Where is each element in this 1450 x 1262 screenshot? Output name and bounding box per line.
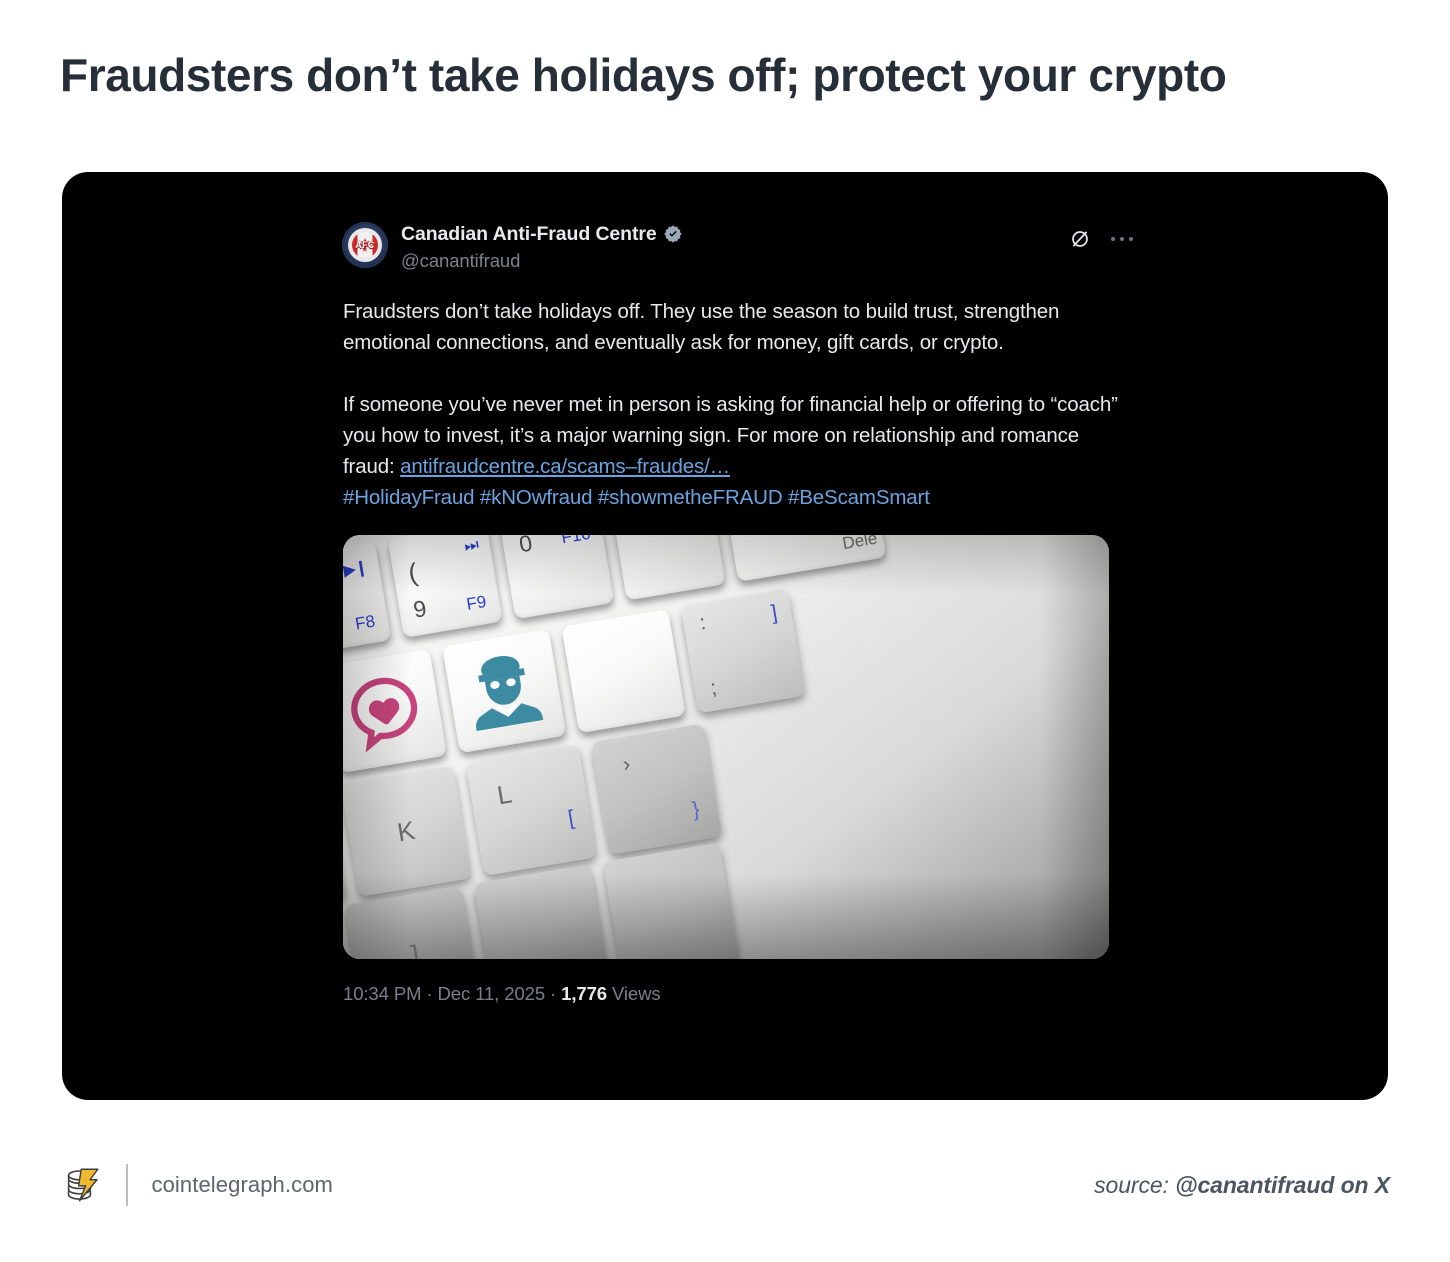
page-footer: cointelegraph.com source: @canantifraud … bbox=[62, 1155, 1390, 1215]
key-f9-symbol: ( bbox=[406, 557, 420, 589]
key-l-label: L bbox=[495, 779, 514, 812]
key-f10-number: 0 bbox=[517, 535, 534, 559]
tweet-hashtags[interactable]: #HolidayFraud #kNOwfraud #showmetheFRAUD… bbox=[343, 482, 1128, 513]
key-j[interactable]: J bbox=[344, 886, 480, 959]
tweet-header: AFC Canadian Anti-Fraud Centre @canantif… bbox=[343, 222, 1133, 278]
heart-speech-bubble-icon bbox=[343, 669, 427, 754]
footer-divider bbox=[126, 1164, 128, 1206]
tweet-header-actions bbox=[1069, 228, 1134, 250]
tweet-author-name[interactable]: Canadian Anti-Fraud Centre bbox=[401, 223, 657, 246]
tweet-views-count: 1,776 bbox=[561, 983, 607, 1004]
avatar-label: AFC bbox=[343, 240, 387, 250]
footer-brand: cointelegraph.com bbox=[62, 1164, 333, 1206]
dot bbox=[1120, 237, 1125, 242]
footer-source-prefix: source: bbox=[1094, 1172, 1175, 1198]
key-f8[interactable]: * 8 ▶❙ F8 bbox=[343, 542, 391, 657]
keyboard-scene: 7 ⏮ F7 * 8 ▶❙ F8 ( 9 ⏭ bbox=[343, 535, 1109, 959]
page-title: Fraudsters don’t take holidays off; prot… bbox=[60, 48, 1390, 102]
key-f9-number: 9 bbox=[411, 595, 428, 624]
verified-badge-icon bbox=[663, 224, 683, 244]
key-colon-label: : bbox=[698, 611, 708, 636]
avatar[interactable]: AFC bbox=[343, 223, 387, 267]
dot bbox=[1129, 237, 1134, 242]
tweet-views-label: Views bbox=[607, 983, 661, 1004]
key-blank-4[interactable] bbox=[603, 843, 739, 959]
key-delete[interactable]: ← Dele bbox=[722, 535, 886, 582]
key-f8-media-icon: ▶❙ bbox=[343, 557, 368, 581]
tweet-media-image[interactable]: 7 ⏮ F7 * 8 ▶❙ F8 ( 9 ⏭ bbox=[343, 535, 1109, 959]
dot bbox=[1111, 237, 1116, 242]
key-semicolon-label: ; bbox=[709, 676, 719, 701]
tweet-card[interactable]: AFC Canadian Anti-Fraud Centre @canantif… bbox=[62, 172, 1388, 1100]
key-k-label: K bbox=[395, 815, 417, 848]
key-colon-semicolon[interactable]: : ; ] bbox=[681, 589, 805, 713]
key-f9-label: F9 bbox=[465, 592, 488, 615]
key-brace-label: } bbox=[690, 798, 701, 823]
key-j-label: J bbox=[403, 938, 421, 959]
tweet-author-line: Canadian Anti-Fraud Centre bbox=[401, 222, 683, 246]
footer-source: source: @canantifraud on X bbox=[1094, 1172, 1390, 1199]
key-l[interactable]: L [ bbox=[465, 745, 596, 876]
footer-domain[interactable]: cointelegraph.com bbox=[152, 1172, 333, 1198]
key-blank-3[interactable] bbox=[473, 864, 609, 959]
key-blank-1[interactable] bbox=[561, 609, 685, 733]
key-bracket-close-label: ] bbox=[769, 601, 779, 626]
footer-source-value[interactable]: @canantifraud on X bbox=[1175, 1172, 1390, 1198]
key-angle-label: › bbox=[621, 753, 632, 778]
tweet-meta: 10:34 PM · Dec 11, 2025 · 1,776 Views bbox=[343, 983, 1133, 1005]
more-options-icon[interactable] bbox=[1111, 231, 1134, 248]
key-k[interactable]: K bbox=[343, 766, 471, 897]
key-heart-2[interactable] bbox=[343, 649, 447, 773]
key-f11[interactable] bbox=[610, 535, 725, 601]
burglar-thief-icon bbox=[458, 645, 550, 737]
key-f10-label: F10 bbox=[560, 535, 592, 549]
cointelegraph-logo-icon bbox=[62, 1164, 104, 1206]
key-quote[interactable]: › } bbox=[591, 724, 722, 855]
tweet-body-link[interactable]: antifraudcentre.ca/scams–fraudes/… bbox=[400, 455, 730, 478]
tweet-content: AFC Canadian Anti-Fraud Centre @canantif… bbox=[343, 222, 1133, 1005]
key-thief[interactable] bbox=[442, 629, 566, 753]
grok-icon[interactable] bbox=[1069, 228, 1091, 250]
tweet-paragraph-2: If someone you’ve never met in person is… bbox=[343, 389, 1128, 482]
tweet-paragraph-1: Fraudsters don’t take holidays off. They… bbox=[343, 296, 1128, 358]
key-f9-media-icon: ⏭ bbox=[463, 537, 479, 557]
tweet-author-handle[interactable]: @canantifraud bbox=[401, 250, 683, 272]
key-f10[interactable]: 0 F10 bbox=[499, 535, 614, 619]
key-bracket-open-label: [ bbox=[566, 807, 576, 832]
key-f8-label: F8 bbox=[354, 612, 377, 635]
page-root: Fraudsters don’t take holidays off; prot… bbox=[0, 0, 1450, 1262]
key-delete-label: Dele bbox=[841, 535, 879, 554]
tweet-author-block: Canadian Anti-Fraud Centre @canantifraud bbox=[401, 222, 683, 272]
tweet-body: Fraudsters don’t take holidays off. They… bbox=[343, 296, 1128, 513]
key-f9[interactable]: ( 9 ⏭ F9 bbox=[387, 535, 502, 638]
tweet-timestamp: 10:34 PM · Dec 11, 2025 · bbox=[343, 983, 561, 1004]
paragraph-spacer bbox=[343, 358, 1128, 389]
